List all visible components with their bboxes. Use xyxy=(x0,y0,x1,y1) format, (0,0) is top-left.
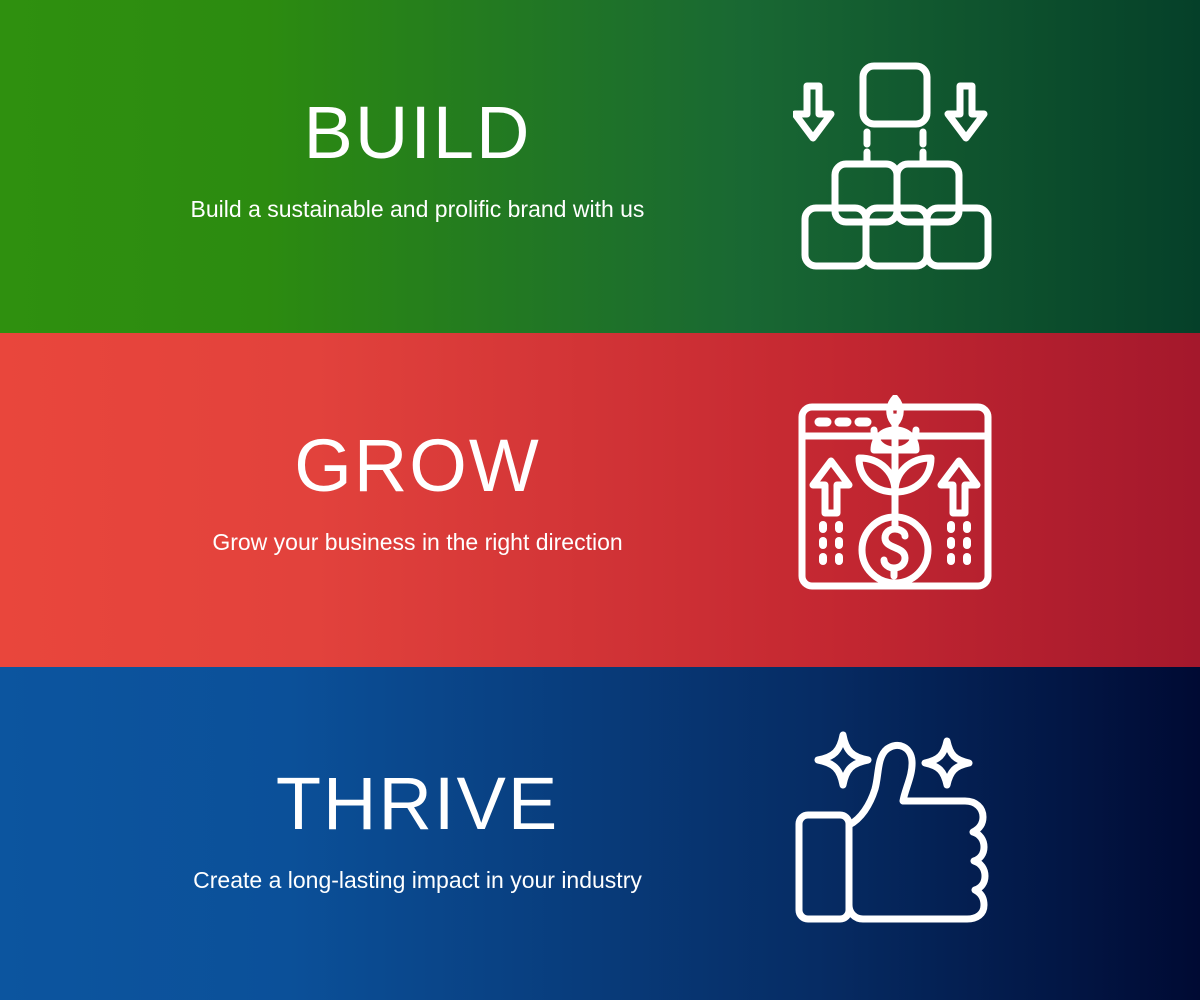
panel-grow-title: GROW xyxy=(10,429,825,503)
build-grow-thrive-banner: BUILD Build a sustainable and prolific b… xyxy=(0,0,1200,1000)
panel-build-title: BUILD xyxy=(10,96,825,170)
panel-build-text: BUILD Build a sustainable and prolific b… xyxy=(0,96,835,224)
panel-grow-subtitle: Grow your business in the right directio… xyxy=(10,529,825,557)
panel-thrive-icon-wrap xyxy=(790,722,1000,932)
panel-thrive: THRIVE Create a long-lasting impact in y… xyxy=(0,667,1200,1000)
panel-build-subtitle: Build a sustainable and prolific brand w… xyxy=(10,196,825,224)
panel-thrive-title: THRIVE xyxy=(10,767,825,841)
panel-build-icon-wrap xyxy=(790,55,1000,275)
panel-grow-text: GROW Grow your business in the right dir… xyxy=(0,429,835,557)
panel-grow-icon-wrap xyxy=(790,393,1000,593)
growth-plant-dollar-icon xyxy=(797,395,993,591)
stacked-bricks-icon xyxy=(793,58,998,273)
panel-build: BUILD Build a sustainable and prolific b… xyxy=(0,0,1200,333)
panel-grow: GROW Grow your business in the right dir… xyxy=(0,333,1200,667)
thumbs-up-sparkle-icon xyxy=(795,727,995,927)
panel-thrive-subtitle: Create a long-lasting impact in your ind… xyxy=(10,867,825,895)
panel-thrive-text: THRIVE Create a long-lasting impact in y… xyxy=(0,767,835,895)
